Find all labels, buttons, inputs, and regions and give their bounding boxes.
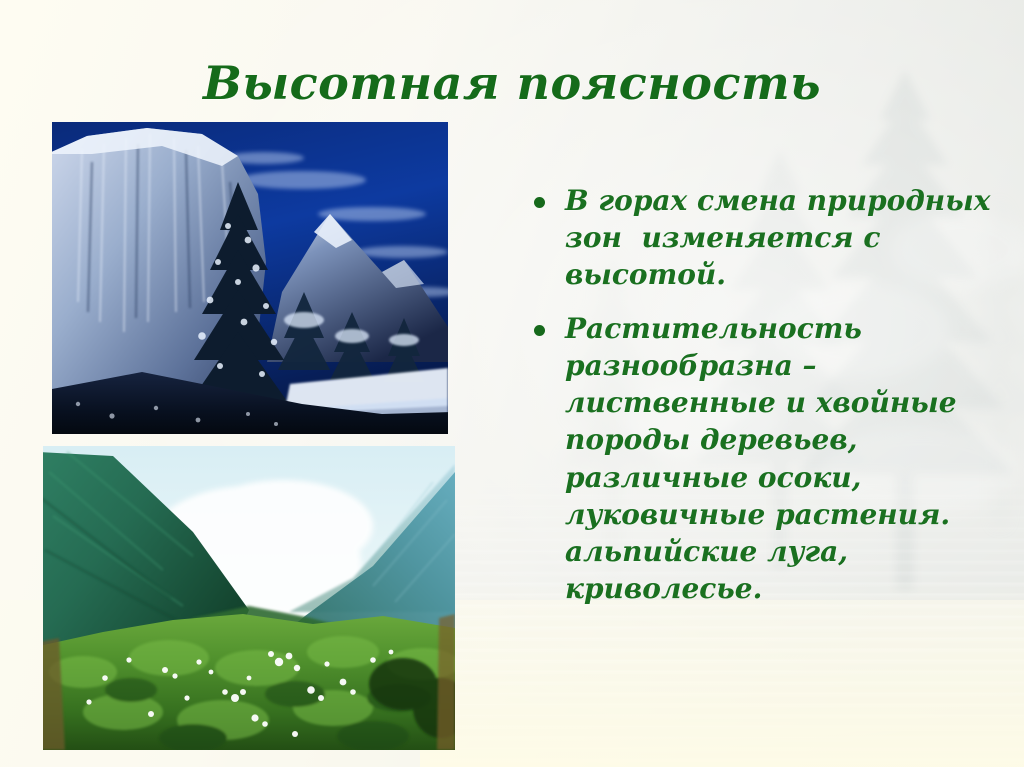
bullet-item-1: В горах смена природных зон изменяется с… — [534, 182, 1004, 294]
bullet-line: различные осоки, — [565, 459, 1004, 496]
bullet-line: Растительность — [565, 310, 1004, 347]
bullet-dot-icon — [534, 197, 545, 208]
bullet-item-1-text: В горах смена природных зон изменяется с… — [565, 182, 1004, 294]
bullet-line: разнообразна – — [565, 347, 1004, 384]
bullet-dot-icon — [534, 325, 545, 336]
bullet-item-2: Растительность разнообразна – лиственные… — [534, 310, 1004, 608]
bullet-line: альпийские луга, — [565, 533, 1004, 570]
bullet-line: зон изменяется с — [565, 219, 1004, 256]
bullet-line: луковичные растения. — [565, 496, 1004, 533]
bullet-item-2-text: Растительность разнообразна – лиственные… — [565, 310, 1004, 608]
bullet-line: высотой. — [565, 256, 1004, 293]
slide-canvas: Высотная поясность — [0, 0, 1024, 767]
bullet-list: В горах смена природных зон изменяется с… — [534, 182, 1004, 624]
bullet-line: породы деревьев, — [565, 421, 1004, 458]
winter-mountain-photo — [52, 122, 448, 434]
bullet-line: лиственные и хвойные — [565, 384, 1004, 421]
bullet-line: В горах смена природных — [565, 182, 1004, 219]
bullet-line: криволесье. — [565, 570, 1004, 607]
alpine-meadow-photo — [43, 446, 455, 750]
slide-title: Высотная поясность — [0, 56, 1024, 110]
